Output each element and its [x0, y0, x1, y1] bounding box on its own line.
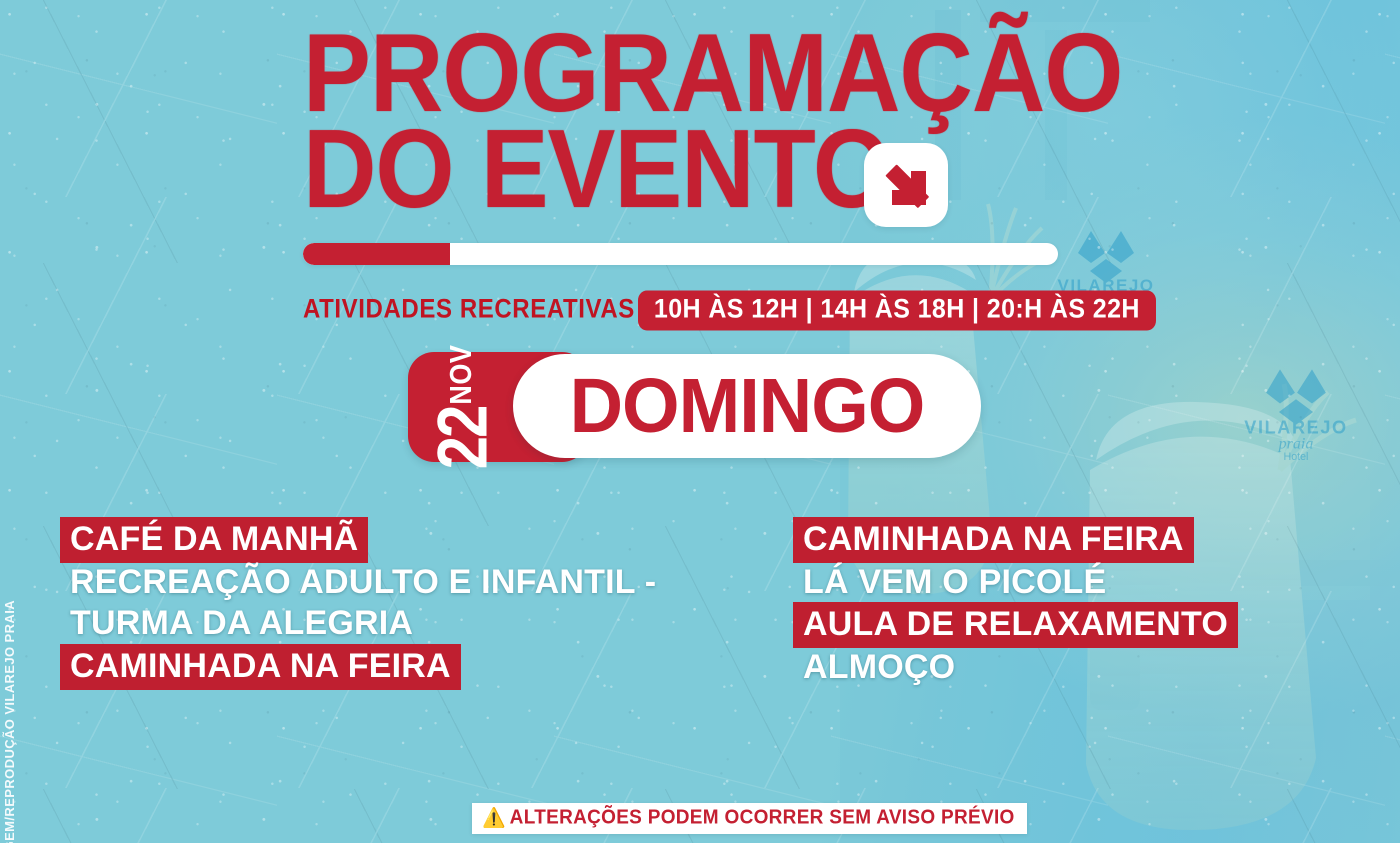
- headline-line-2: DO EVENTO: [303, 120, 1151, 220]
- activity-label: CAFÉ DA MANHÃ: [60, 517, 368, 563]
- warning-triangle-icon: ⚠️: [482, 809, 506, 828]
- activity-times-pill: 10H ÀS 12H | 14H ÀS 18H | 20:H ÀS 22H: [638, 291, 1156, 330]
- activity-label: CAMINHADA NA FEIRA: [793, 517, 1194, 563]
- date-day-month-rotated: 22 NOV: [408, 352, 518, 462]
- activity-item: CAMINHADA NA FEIRA: [793, 519, 1313, 561]
- progress-divider-bar: [303, 243, 1058, 265]
- arrow-down-right-icon: [864, 143, 948, 227]
- activity-item: CAFÉ DA MANHÃ: [60, 519, 780, 561]
- activity-item: LÁ VEM O PICOLÉ: [793, 562, 1313, 604]
- activity-label: ALMOÇO: [793, 645, 965, 691]
- disclaimer-banner: ⚠️ ALTERAÇÕES PODEM OCORRER SEM AVISO PR…: [472, 803, 1027, 834]
- activity-item: AULA DE RELAXAMENTO: [793, 604, 1313, 646]
- date-day: 22: [428, 407, 499, 470]
- activity-label: RECREAÇÃO ADULTO E INFANTIL - TURMA DA A…: [60, 560, 666, 648]
- activity-item: RECREAÇÃO ADULTO E INFANTIL - TURMA DA A…: [60, 562, 780, 645]
- activity-item: ALMOÇO: [793, 647, 1313, 689]
- photo-credit: *IMAGEM/REPRODUÇÃO VILAREJO PRAIA: [2, 600, 17, 843]
- activity-item: CAMINHADA NA FEIRA: [60, 646, 780, 688]
- recreational-activities-label: ATIVIDADES RECREATIVAS: [303, 295, 638, 326]
- activity-label: LÁ VEM O PICOLÉ: [793, 560, 1116, 606]
- weekday-label: DOMINGO: [570, 368, 925, 445]
- photo-credit-text: *IMAGEM/REPRODUÇÃO VILAREJO PRAIA: [2, 600, 17, 843]
- weekday-pill: DOMINGO: [513, 354, 981, 458]
- event-schedule-poster: VILAREJO praia Hotel VILAREJO praia Hote…: [0, 0, 1400, 843]
- activities-left-column: CAFÉ DA MANHÃ RECREAÇÃO ADULTO E INFANTI…: [60, 519, 780, 689]
- disclaimer-text: ALTERAÇÕES PODEM OCORRER SEM AVISO PRÉVI…: [510, 806, 1015, 829]
- activity-label: AULA DE RELAXAMENTO: [793, 602, 1238, 648]
- progress-divider-fill: [303, 243, 450, 265]
- activity-label: CAMINHADA NA FEIRA: [60, 644, 461, 690]
- date-month: NOV: [446, 345, 480, 405]
- recreational-activities-row: ATIVIDADES RECREATIVAS 10H ÀS 12H | 14H …: [303, 292, 1156, 329]
- activities-right-column: CAMINHADA NA FEIRA LÁ VEM O PICOLÉ AULA …: [793, 519, 1313, 690]
- poster-headline: PROGRAMAÇÃO DO EVENTO: [303, 24, 1103, 207]
